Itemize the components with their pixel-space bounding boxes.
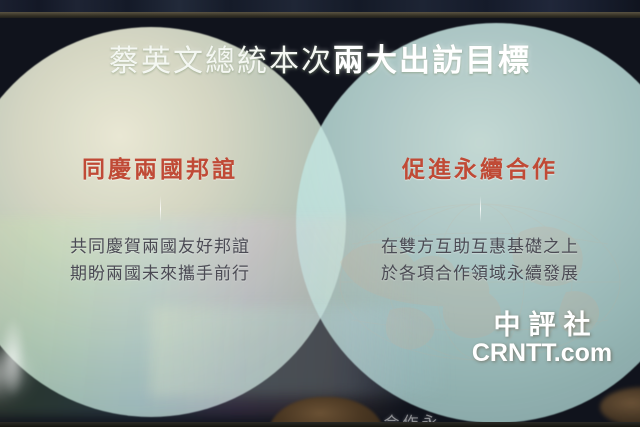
goal-2-line-2: 於各項合作領域永續發展 [320,261,640,287]
goal-columns: 同慶兩國邦誼 共同慶賀兩國友好邦誼 期盼兩國未來攜手前行 促進永續合作 在雙方互… [0,157,640,287]
goal-1-body: 共同慶賀兩國友好邦誼 期盼兩國未來攜手前行 [0,234,320,287]
goal-column-2: 促進永續合作 在雙方互助互惠基礎之上 於各項合作領域永續發展 [320,157,640,287]
goal-2-divider [480,196,481,222]
slide-title: 蔡英文總統本次兩大出訪目標 [0,45,640,77]
goal-1-heading: 同慶兩國邦誼 [0,157,320,182]
goal-column-1: 同慶兩國邦誼 共同慶賀兩國友好邦誼 期盼兩國未來攜手前行 [0,157,320,287]
photo-of-presentation-screen: 蔡英文總統本次兩大出訪目標 同慶兩國邦誼 共同慶賀兩國友好邦誼 期盼兩國未來攜手… [0,0,640,427]
goal-2-heading: 促進永續合作 [320,157,640,182]
projected-slide: 蔡英文總統本次兩大出訪目標 同慶兩國邦誼 共同慶賀兩國友好邦誼 期盼兩國未來攜手… [0,17,640,422]
goal-2-line-1: 在雙方互助互惠基礎之上 [320,234,640,260]
goal-2-body: 在雙方互助互惠基礎之上 於各項合作領域永續發展 [320,234,640,287]
goal-1-line-1: 共同慶賀兩國友好邦誼 [0,234,320,260]
goal-1-divider [160,196,161,222]
goal-1-line-2: 期盼兩國未來攜手前行 [0,261,320,287]
frame-bottom-edge [0,422,640,427]
slide-title-emphasis: 兩大出訪目標 [333,43,531,78]
slide-title-lead: 蔡英文總統本次 [109,45,333,78]
